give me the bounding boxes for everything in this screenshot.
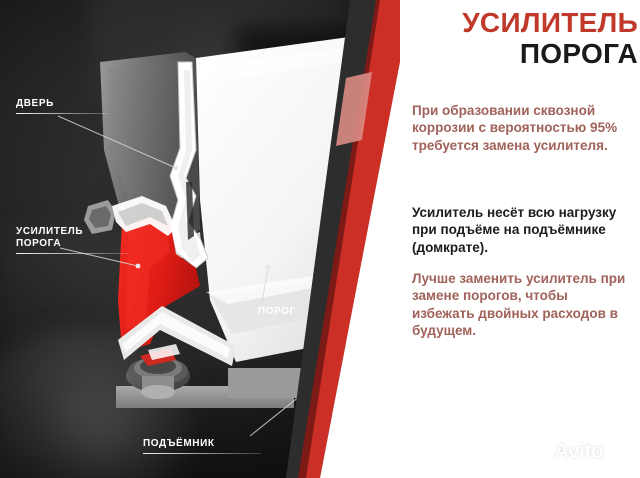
leader-dot-door — [174, 166, 179, 171]
callout-reinforcement: УСИЛИТЕЛЬ ПОРОГА — [16, 226, 128, 254]
callout-jack-label: ПОДЪЁМНИК — [143, 438, 261, 450]
callout-door-rule — [16, 113, 108, 114]
callout-jack: ПОДЪЁМНИК — [143, 438, 261, 454]
paragraph-corrosion: При образовании сквозной коррозии с веро… — [412, 102, 630, 155]
infographic-card: ДВЕРЬ УСИЛИТЕЛЬ ПОРОГА ПОРОГ ПОДЪЁМНИК У… — [0, 0, 640, 478]
avito-watermark-text: Avito — [554, 441, 603, 463]
leader-dot-reinforcement — [136, 264, 141, 269]
sill-outer-panel — [196, 30, 400, 362]
content-panel: УСИЛИТЕЛЬ ПОРОГА При образовании сквозно… — [400, 0, 640, 478]
page-title: УСИЛИТЕЛЬ ПОРОГА — [412, 8, 638, 70]
callout-door-label: ДВЕРЬ — [16, 98, 108, 110]
leader-dot-sill — [266, 265, 271, 270]
callout-reinforcement-label-line1: УСИЛИТЕЛЬ — [16, 226, 128, 238]
callout-reinforcement-rule — [16, 253, 128, 254]
paragraph-load: Усилитель несёт всю нагрузку при подъёме… — [412, 204, 630, 257]
paragraph-advice: Лучше заменить усилитель при замене поро… — [412, 270, 630, 340]
avito-watermark: Avito — [524, 437, 628, 467]
callout-sill: ПОРОГ — [258, 306, 296, 318]
page-title-line2: ПОРОГА — [412, 38, 638, 70]
callout-jack-rule — [143, 453, 261, 454]
avito-logo-icon — [524, 441, 550, 463]
callout-door: ДВЕРЬ — [16, 98, 108, 114]
leader-dot-jack — [328, 370, 333, 375]
callout-reinforcement-label-line2: ПОРОГА — [16, 238, 128, 250]
callout-sill-label: ПОРОГ — [258, 306, 296, 318]
page-title-line1: УСИЛИТЕЛЬ — [412, 8, 638, 38]
